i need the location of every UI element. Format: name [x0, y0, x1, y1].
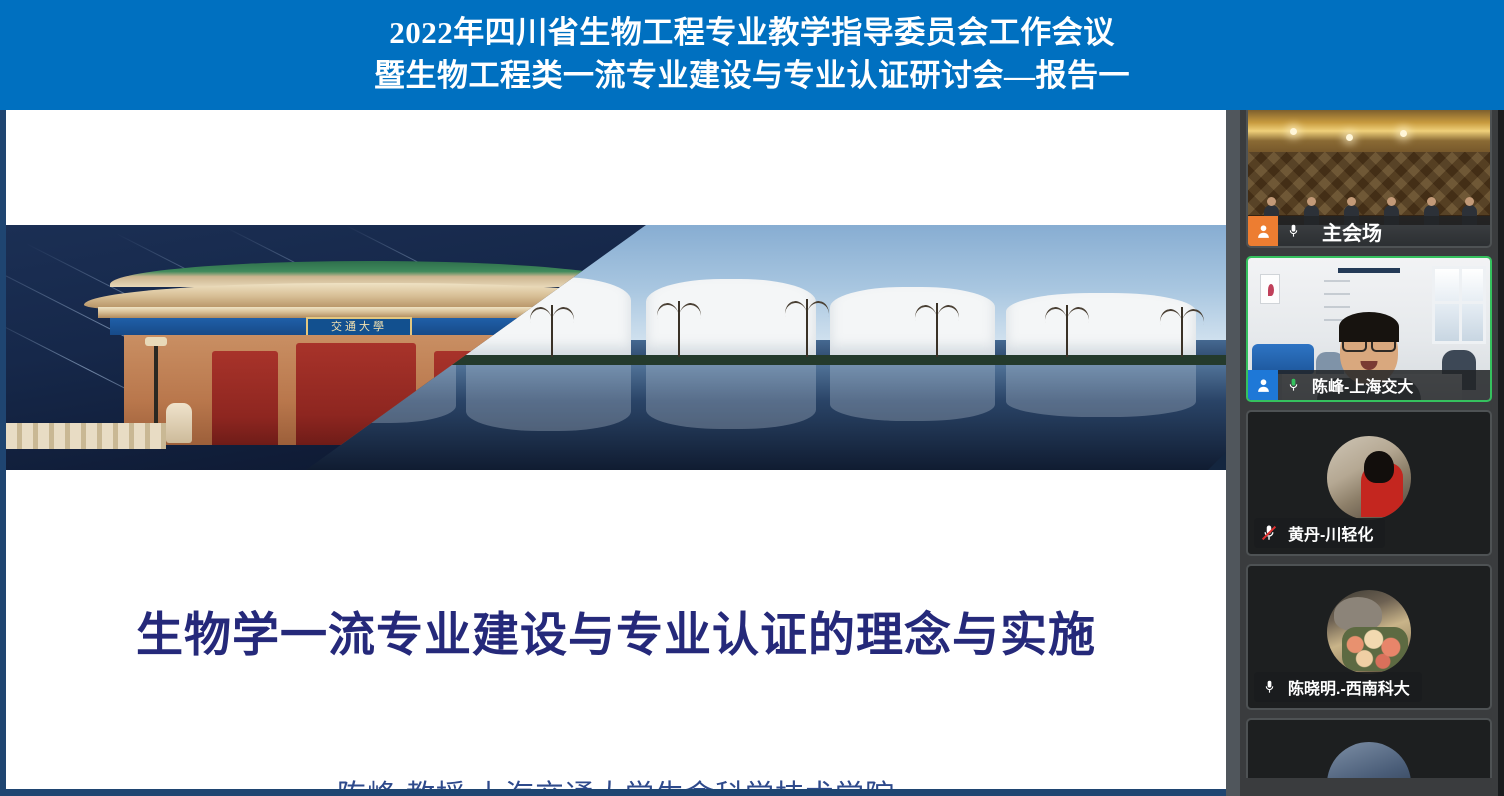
- stone-lion: [166, 403, 192, 443]
- avatar: [1327, 436, 1411, 520]
- banner-line-2: 暨生物工程类一流专业建设与专业认证研讨会—报告一: [374, 55, 1130, 98]
- person-icon: [1248, 370, 1278, 400]
- avatar: [1327, 742, 1411, 778]
- participant-name: 主会场: [1308, 217, 1382, 246]
- participant-name-bar: 主会场: [1248, 216, 1490, 246]
- lamp-post: [154, 343, 158, 435]
- microphone-icon: [1254, 672, 1284, 702]
- slide-main-title: 生物学一流专业建设与专业认证的理念与实施: [6, 596, 1226, 665]
- participant-name-bar: 陈峰-上海交大: [1248, 370, 1490, 400]
- ceiling-spotlight: [1290, 128, 1297, 135]
- ceiling-spotlight: [1346, 134, 1353, 141]
- participant-tile-chen-feng[interactable]: 陈峰-上海交大: [1246, 256, 1492, 402]
- participant-tile-main-hall[interactable]: 主会场: [1246, 110, 1492, 248]
- shared-slide[interactable]: 交通大學 生物学一流专业建设与专业认证的理念与实施 陈峰 教授 上海交通大学生命…: [0, 110, 1240, 796]
- meeting-screen-share-window: 2022年四川省生物工程专业教学指导委员会工作会议 暨生物工程类一流专业建设与专…: [0, 0, 1504, 796]
- microphone-muted-icon: [1254, 518, 1284, 548]
- banner-line-1: 2022年四川省生物工程专业教学指导委员会工作会议: [389, 12, 1115, 55]
- panel-right-edge: [1498, 110, 1504, 796]
- speaker-hair: [1339, 312, 1399, 342]
- stone-balustrade: [6, 423, 166, 449]
- conference-title-banner: 2022年四川省生物工程专业教学指导委员会工作会议 暨生物工程类一流专业建设与专…: [0, 0, 1504, 110]
- participant-tile-huang-dan[interactable]: 黄丹-川轻化: [1246, 410, 1492, 556]
- campus-building-reflection: [1006, 365, 1196, 417]
- participant-name-bar: 陈晓明.-西南科大: [1254, 672, 1422, 702]
- participant-tile-partial-bottom[interactable]: [1246, 718, 1492, 778]
- campus-building-reflection: [466, 365, 631, 431]
- campus-tree: [551, 305, 553, 357]
- participant-name-bar: 黄丹-川轻化: [1254, 518, 1385, 548]
- wall-artwork: [1260, 274, 1280, 304]
- campus-building: [830, 287, 995, 355]
- campus-tree: [806, 299, 808, 357]
- slide-bottom-accent-bar: [0, 789, 1240, 796]
- campus-building-reflection: [646, 365, 816, 429]
- participant-name: 陈峰-上海交大: [1308, 373, 1413, 397]
- person-icon: [1248, 216, 1278, 246]
- participant-name: 黄丹-川轻化: [1284, 521, 1373, 545]
- slide-right-edge: [1226, 110, 1240, 796]
- participant-tile-chen-xiaoming[interactable]: 陈晓明.-西南科大: [1246, 564, 1492, 710]
- lamp-head: [145, 337, 167, 346]
- campus-tree: [936, 303, 938, 357]
- hall-acoustic-wall: [1248, 152, 1490, 214]
- slide-hero-image: 交通大學: [6, 225, 1234, 470]
- wall-dark-strip: [1338, 268, 1400, 273]
- office-window: [1432, 266, 1486, 344]
- microphone-active-icon: [1278, 370, 1308, 400]
- campus-tree: [678, 301, 680, 357]
- campus-tree: [1181, 307, 1183, 357]
- ceiling-spotlight: [1400, 130, 1407, 137]
- participant-name: 陈晓明.-西南科大: [1284, 675, 1410, 699]
- microphone-icon: [1278, 216, 1308, 246]
- participant-video-panel[interactable]: 主会场: [1240, 110, 1504, 796]
- campus-building-reflection: [830, 365, 995, 421]
- campus-tree: [1066, 305, 1068, 357]
- gate-side-door: [212, 351, 278, 445]
- avatar: [1327, 590, 1411, 674]
